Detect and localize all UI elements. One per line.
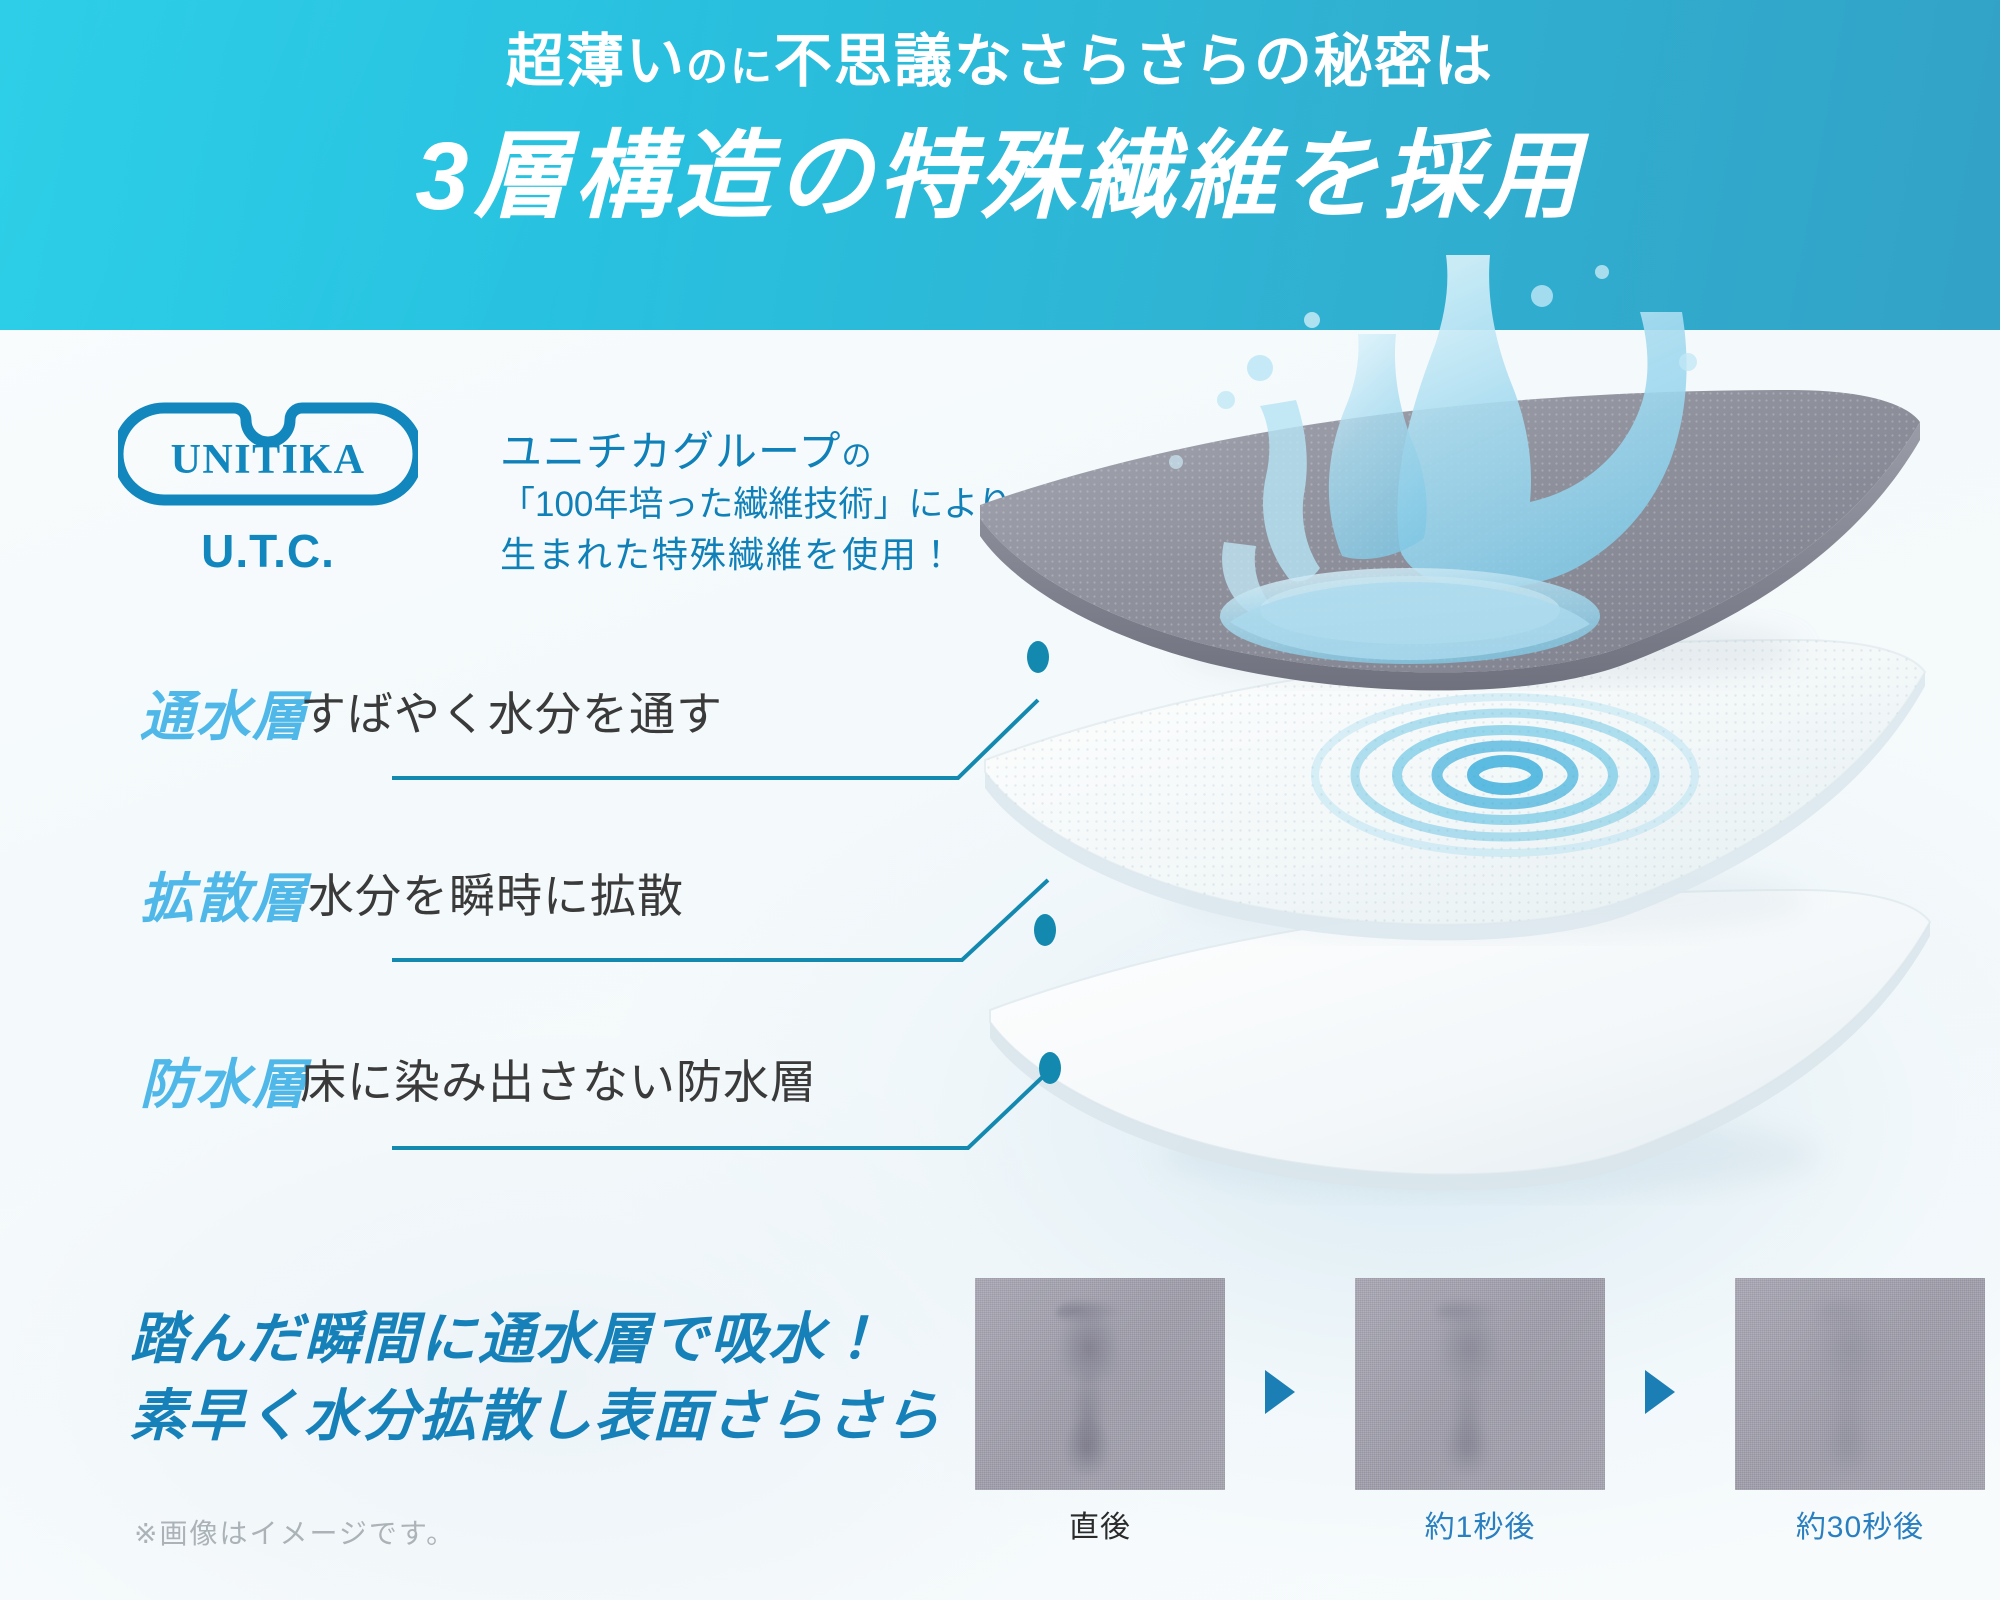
arrow-right-icon-1 [1265, 1370, 1295, 1414]
layer-marker-middle [1034, 914, 1056, 946]
header-subtitle: 超薄いのに不思議なさらさらの秘密は [0, 30, 2000, 94]
unitika-utc-label: U.T.C. [118, 524, 418, 578]
callout-line-1: 踏んだ瞬間に通水層で吸水！ [130, 1300, 950, 1377]
header-subtitle-prefix: 超薄い [506, 29, 686, 94]
layer-title-permeable: 通水層 [140, 672, 308, 751]
photo-caption-30sec: 約30秒後 [1735, 1502, 1985, 1546]
unitika-badge: UNITIKA [118, 400, 418, 522]
layer-desc-diffusion: 水分を瞬時に拡散 [308, 860, 684, 926]
footprint-heel-icon [1445, 1418, 1489, 1476]
footnote-disclaimer: ※画像はイメージです。 [134, 1512, 456, 1552]
photo-caption-immediate: 直後 [975, 1502, 1225, 1546]
infographic-page: 超薄いのに不思議なさらさらの秘密は 3層構造の特殊繊維を採用 UNITIKA U… [0, 0, 2000, 1600]
header-subtitle-suffix: 不思議なさらさらの秘密は [774, 29, 1494, 94]
svg-text:UNITIKA: UNITIKA [171, 437, 366, 483]
layer-desc-waterproof: 床に染み出さない防水層 [300, 1046, 817, 1112]
tagline-group-name: ユニチカグループ [500, 428, 841, 475]
bottom-callout: 踏んだ瞬間に通水層で吸水！ 素早く水分拡散し表面さらさら [130, 1300, 950, 1455]
photo-panel-30sec [1735, 1278, 1985, 1490]
photo-caption-1sec: 約1秒後 [1355, 1502, 1605, 1546]
layer-desc-permeable: すばやく水分を通す [300, 678, 723, 744]
header-subtitle-small: のに [686, 43, 774, 90]
photo-panel-1sec [1355, 1278, 1605, 1490]
header-title: 3層構造の特殊繊維を採用 [0, 122, 2000, 232]
photo-panel-immediate [975, 1278, 1225, 1490]
layer-title-waterproof: 防水層 [140, 1040, 308, 1119]
footprint-heel-icon [1065, 1418, 1109, 1476]
footprint-heel-icon [1825, 1418, 1869, 1476]
layer-marker-top [1027, 641, 1049, 673]
tagline-particle: の [841, 440, 872, 473]
unitika-logo: UNITIKA U.T.C. [118, 400, 418, 578]
arrow-right-icon-2 [1645, 1370, 1675, 1414]
callout-line-2: 素早く水分拡散し表面さらさら [130, 1377, 950, 1454]
layer-title-diffusion: 拡散層 [140, 854, 308, 933]
footprint-photo-strip: 直後 約1秒後 約30秒後 [975, 1278, 1985, 1568]
mat-layer-illustration [930, 250, 2000, 1230]
